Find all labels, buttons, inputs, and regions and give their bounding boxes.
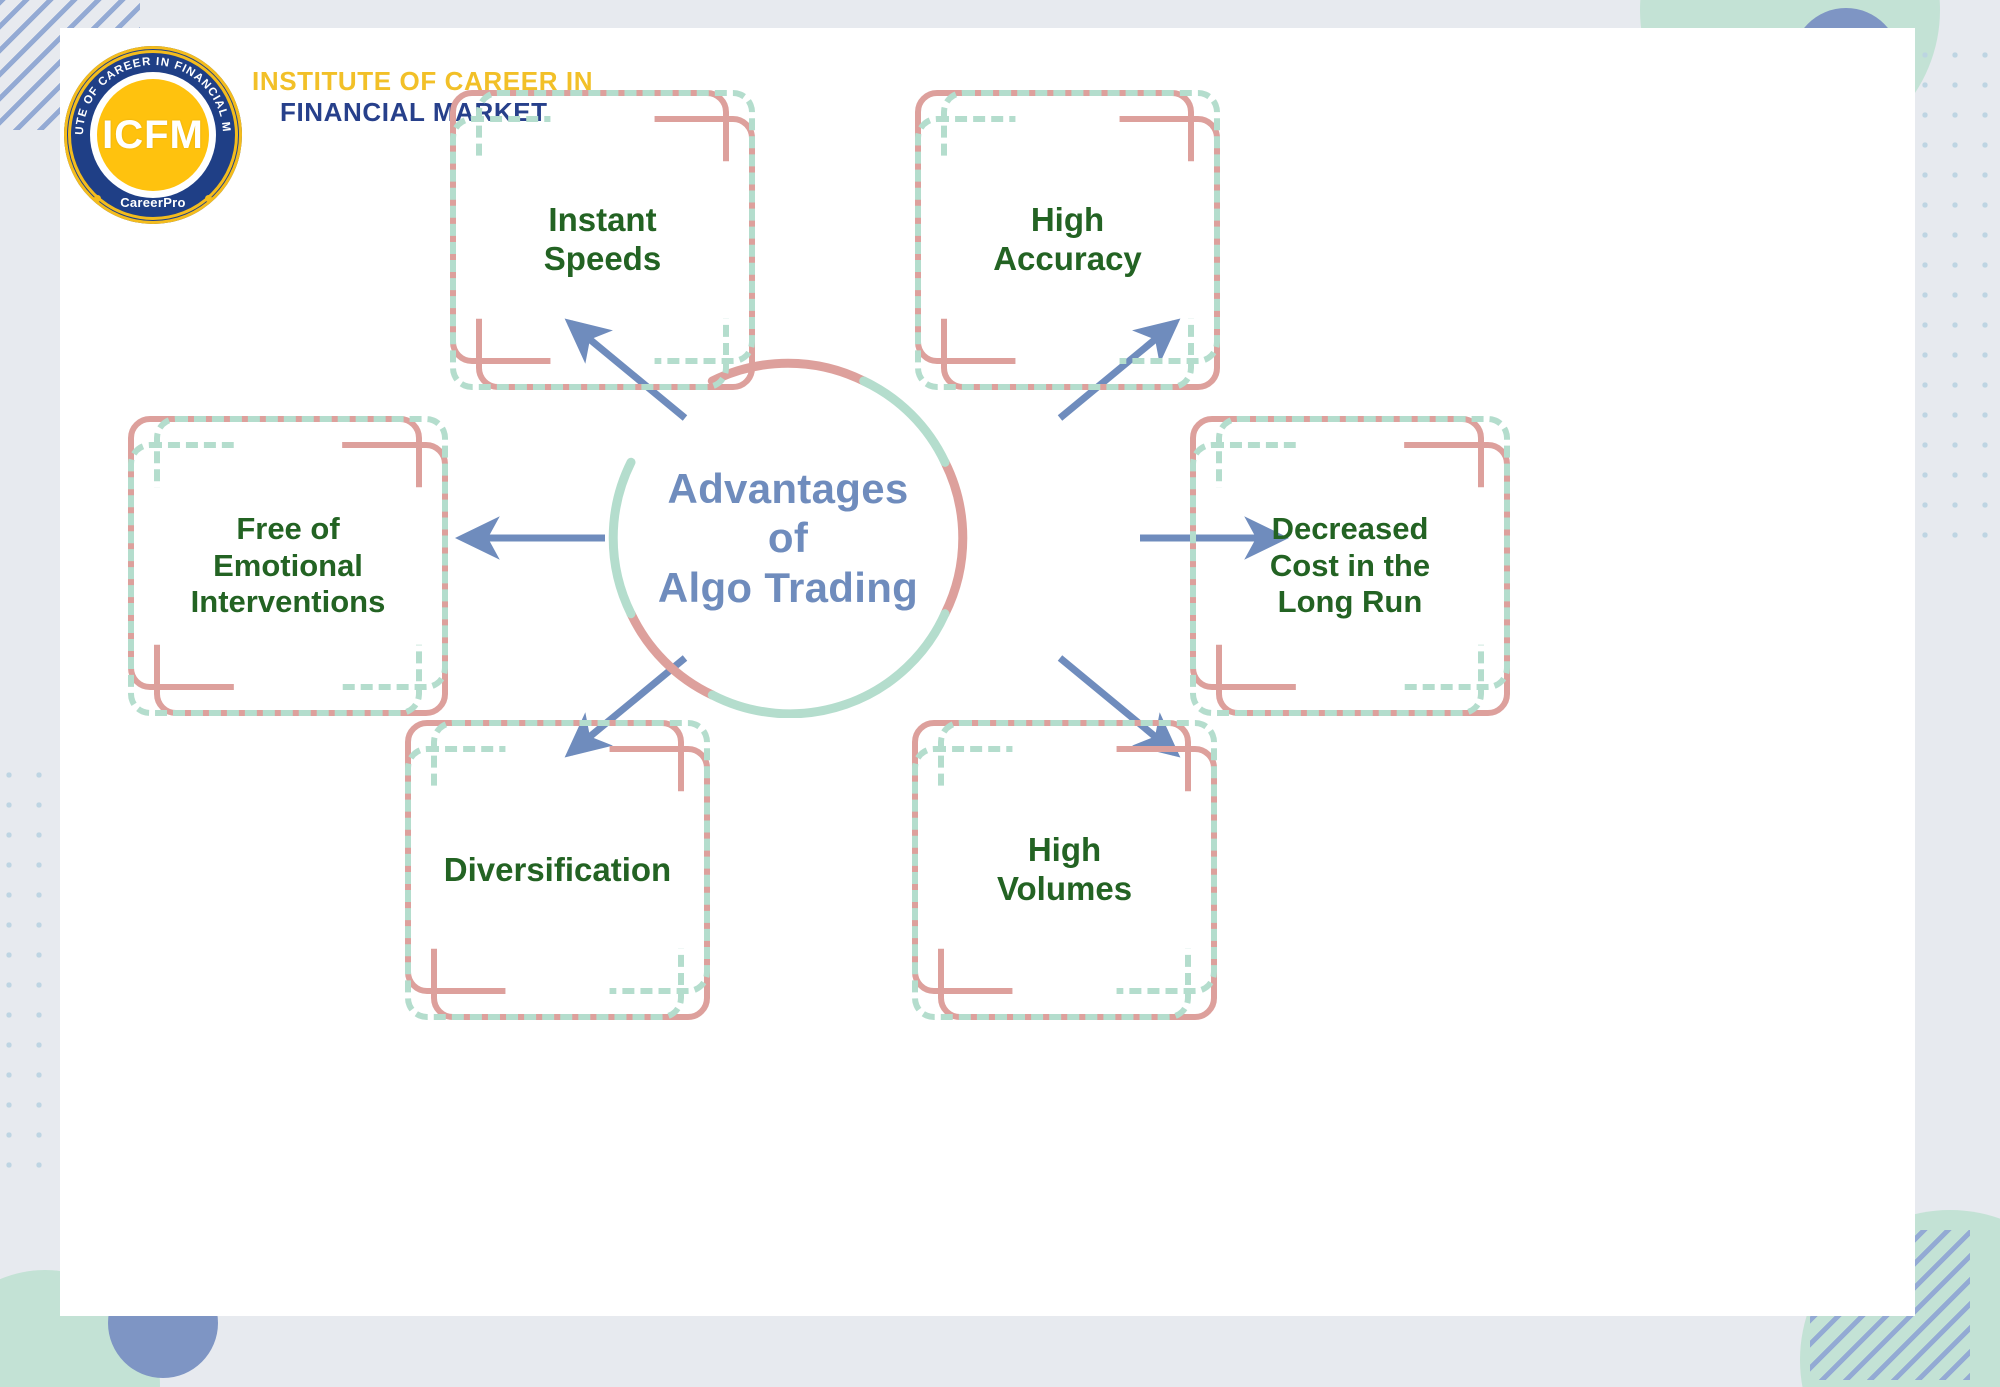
center-title: Advantages of Algo Trading (608, 358, 968, 718)
node-label: High Volumes (912, 720, 1217, 1020)
infographic-canvas: INSTITUTE OF CAREER IN FINANCIAL MARKET … (60, 28, 1915, 1316)
center-title-line1: Advantages (667, 464, 908, 514)
center-title-line2: of (768, 513, 808, 563)
node-high-volumes[interactable]: High Volumes (912, 720, 1217, 1020)
center-title-line3: Algo Trading (658, 563, 918, 613)
node-label: Free of Emotional Interventions (128, 416, 448, 716)
node-free-of-emotional-interventions[interactable]: Free of Emotional Interventions (128, 416, 448, 716)
node-label: Instant Speeds (450, 90, 755, 390)
node-diversification[interactable]: Diversification (405, 720, 710, 1020)
node-instant-speeds[interactable]: Instant Speeds (450, 90, 755, 390)
node-label: Diversification (405, 720, 710, 1020)
node-label: High Accuracy (915, 90, 1220, 390)
node-label: Decreased Cost in the Long Run (1190, 416, 1510, 716)
node-decreased-cost-in-the-long-run[interactable]: Decreased Cost in the Long Run (1190, 416, 1510, 716)
node-high-accuracy[interactable]: High Accuracy (915, 90, 1220, 390)
center-hub: Advantages of Algo Trading (608, 358, 968, 718)
